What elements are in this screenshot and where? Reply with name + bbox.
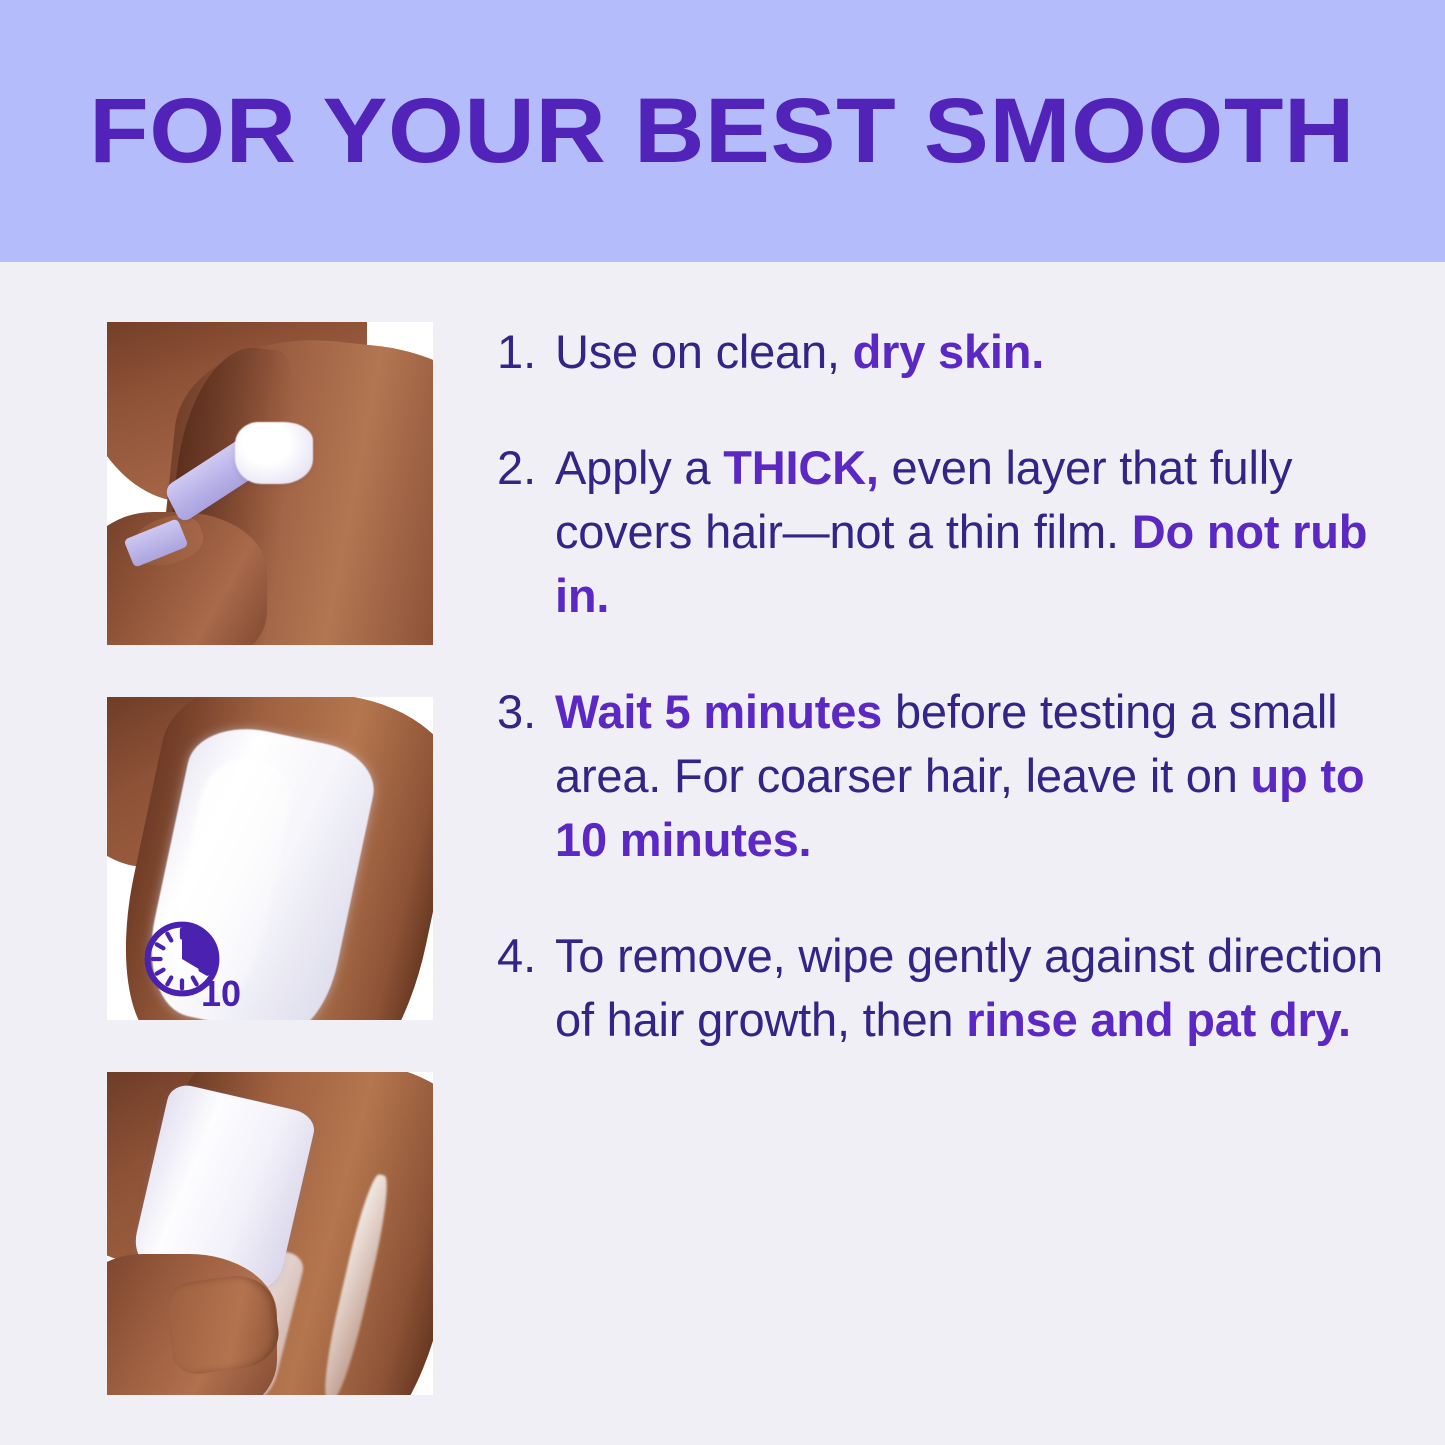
step-number: 3. [497,680,555,744]
step-text: Wait 5 minutes before testing a small ar… [555,680,1402,872]
main-content: 10 1. Use on clean, dry skin. 2. Apply a… [0,262,1445,1445]
step-number: 4. [497,924,555,988]
step-number: 2. [497,436,555,500]
panel-3-artwork [107,1072,433,1395]
instruction-step: 1. Use on clean, dry skin. [497,320,1402,384]
cream-blob-shape [235,422,313,484]
panel-1-artwork [107,322,433,645]
instruction-steps-list: 1. Use on clean, dry skin. 2. Apply a TH… [497,320,1402,1052]
panel-wipe-off-cream [107,1072,433,1395]
panel-apply-with-applicator [107,322,433,645]
header-banner: FOR YOUR BEST SMOOTH [0,0,1445,262]
page-title: FOR YOUR BEST SMOOTH [90,85,1356,177]
instruction-step: 2. Apply a THICK, even layer that fully … [497,436,1402,628]
timer-minutes-label: 10 [201,976,241,1012]
step-text: Use on clean, dry skin. [555,320,1402,384]
instruction-step: 3. Wait 5 minutes before testing a small… [497,680,1402,872]
instruction-image-column: 10 [107,322,433,1395]
step-text: Apply a THICK, even layer that fully cov… [555,436,1402,628]
step-text: To remove, wipe gently against direction… [555,924,1402,1052]
panel-thick-layer-timer: 10 [107,697,433,1020]
timer-clock-icon: 10 [139,916,225,1002]
instruction-step: 4. To remove, wipe gently against direct… [497,924,1402,1052]
step-number: 1. [497,320,555,384]
